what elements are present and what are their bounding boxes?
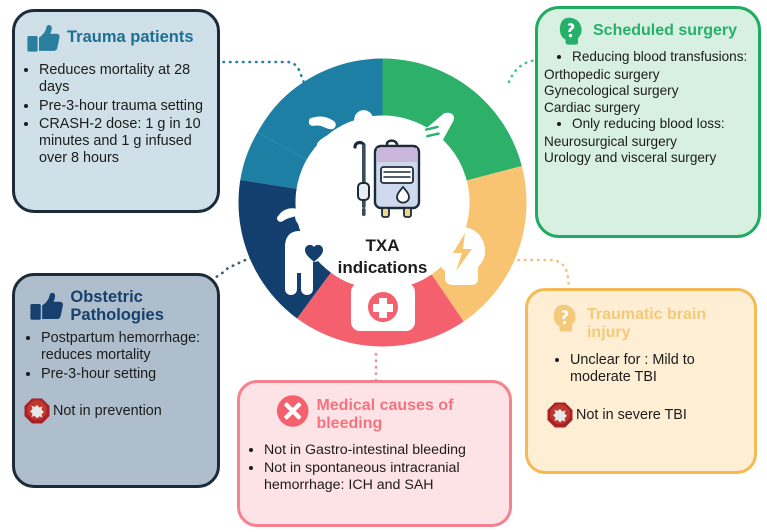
- panel-surgery-header: Scheduled surgery: [538, 9, 758, 46]
- panel-tbi-header: Traumatic brain injury: [528, 291, 754, 343]
- obstetric-note-text: Not in prevention: [53, 403, 162, 419]
- list-item: Not in spontaneous intracranial hemorrha…: [264, 460, 501, 494]
- obstetric-warning-note: Not in prevention: [15, 384, 217, 425]
- list-item: Reduces mortality at 28 days: [39, 62, 208, 97]
- circle-x-icon: [276, 393, 309, 429]
- trauma-bullet-list: Reduces mortality at 28 days Pre-3-hour …: [21, 62, 208, 168]
- panel-obstetric-title: Obstetric Pathologies: [70, 286, 217, 325]
- surgery-bullet-list-2: Only reducing blood loss:: [544, 116, 752, 133]
- panel-medical-causes-of-bleeding[interactable]: Medical causes of bleeding Not in Gastro…: [237, 380, 512, 527]
- stop-x-badge-icon: [546, 401, 574, 429]
- panel-obstetric-body: Postpartum hemorrhage: reduces mortality…: [15, 326, 217, 383]
- list-item: Pre-3-hour trauma setting: [39, 98, 208, 115]
- txa-indications-wheel: TXA indications: [235, 55, 530, 350]
- panel-scheduled-surgery[interactable]: Scheduled surgery Reducing blood transfu…: [535, 6, 761, 238]
- thumbs-up-icon: [26, 21, 60, 55]
- surgery-plain-line: Orthopedic surgery: [544, 67, 752, 84]
- panel-tbi-body: Unclear for : Mild to moderate TBI: [528, 343, 754, 387]
- list-item: CRASH-2 dose: 1 g in 10 minutes and 1 g …: [39, 116, 208, 168]
- tbi-note-text: Not in severe TBI: [576, 407, 687, 423]
- list-item: Unclear for : Mild to moderate TBI: [570, 352, 746, 387]
- iv-drip-bag-icon: [355, 141, 419, 217]
- list-item: Postpartum hemorrhage: reduces mortality: [41, 330, 209, 365]
- head-question-mark-icon: [550, 303, 580, 333]
- list-item: Pre-3-hour setting: [41, 366, 209, 383]
- list-item: Not in Gastro-intestinal bleeding: [264, 442, 501, 459]
- panel-tbi-title: Traumatic brain injury: [587, 303, 754, 343]
- panel-trauma-body: Reduces mortality at 28 days Pre-3-hour …: [15, 55, 217, 168]
- infographic-canvas: TXA indications Trauma patients Reduces …: [0, 0, 767, 532]
- surgery-plain-line: Cardiac surgery: [544, 100, 752, 117]
- panel-traumatic-brain-injury[interactable]: Traumatic brain injury Unclear for : Mil…: [525, 288, 757, 474]
- surgery-plain-line: Gynecological surgery: [544, 83, 752, 100]
- hub-title-line1: TXA: [366, 236, 400, 255]
- panel-surgery-body: Reducing blood transfusions: Orthopedic …: [538, 46, 758, 167]
- panel-obstetric-pathologies[interactable]: Obstetric Pathologies Postpartum hemorrh…: [12, 273, 220, 488]
- panel-medical-title: Medical causes of bleeding: [316, 393, 509, 433]
- surgery-plain-line: Urology and visceral surgery: [544, 150, 752, 167]
- tbi-bullet-list: Unclear for : Mild to moderate TBI: [538, 352, 746, 387]
- hub-title-line2: indications: [338, 258, 428, 277]
- panel-surgery-title: Scheduled surgery: [593, 16, 737, 40]
- surgery-bullet-list-1: Reducing blood transfusions:: [544, 49, 752, 66]
- panel-trauma-title: Trauma patients: [67, 21, 194, 46]
- panel-trauma-patients[interactable]: Trauma patients Reduces mortality at 28 …: [12, 9, 220, 213]
- list-item: Only reducing blood loss:: [572, 116, 752, 133]
- panel-medical-body: Not in Gastro-intestinal bleeding Not in…: [240, 433, 509, 494]
- tbi-warning-note: Not in severe TBI: [528, 387, 754, 429]
- head-question-mark-icon: [556, 16, 586, 46]
- surgery-plain-line: Neurosurgical surgery: [544, 134, 752, 151]
- obstetric-bullet-list: Postpartum hemorrhage: reduces mortality…: [23, 330, 209, 383]
- thumbs-up-icon: [29, 286, 63, 326]
- panel-medical-header: Medical causes of bleeding: [240, 383, 509, 433]
- medical-bullet-list: Not in Gastro-intestinal bleeding Not in…: [246, 442, 501, 494]
- panel-obstetric-header: Obstetric Pathologies: [15, 276, 217, 326]
- panel-trauma-header: Trauma patients: [15, 12, 217, 55]
- stop-x-badge-icon: [23, 397, 51, 425]
- list-item: Reducing blood transfusions:: [572, 49, 752, 66]
